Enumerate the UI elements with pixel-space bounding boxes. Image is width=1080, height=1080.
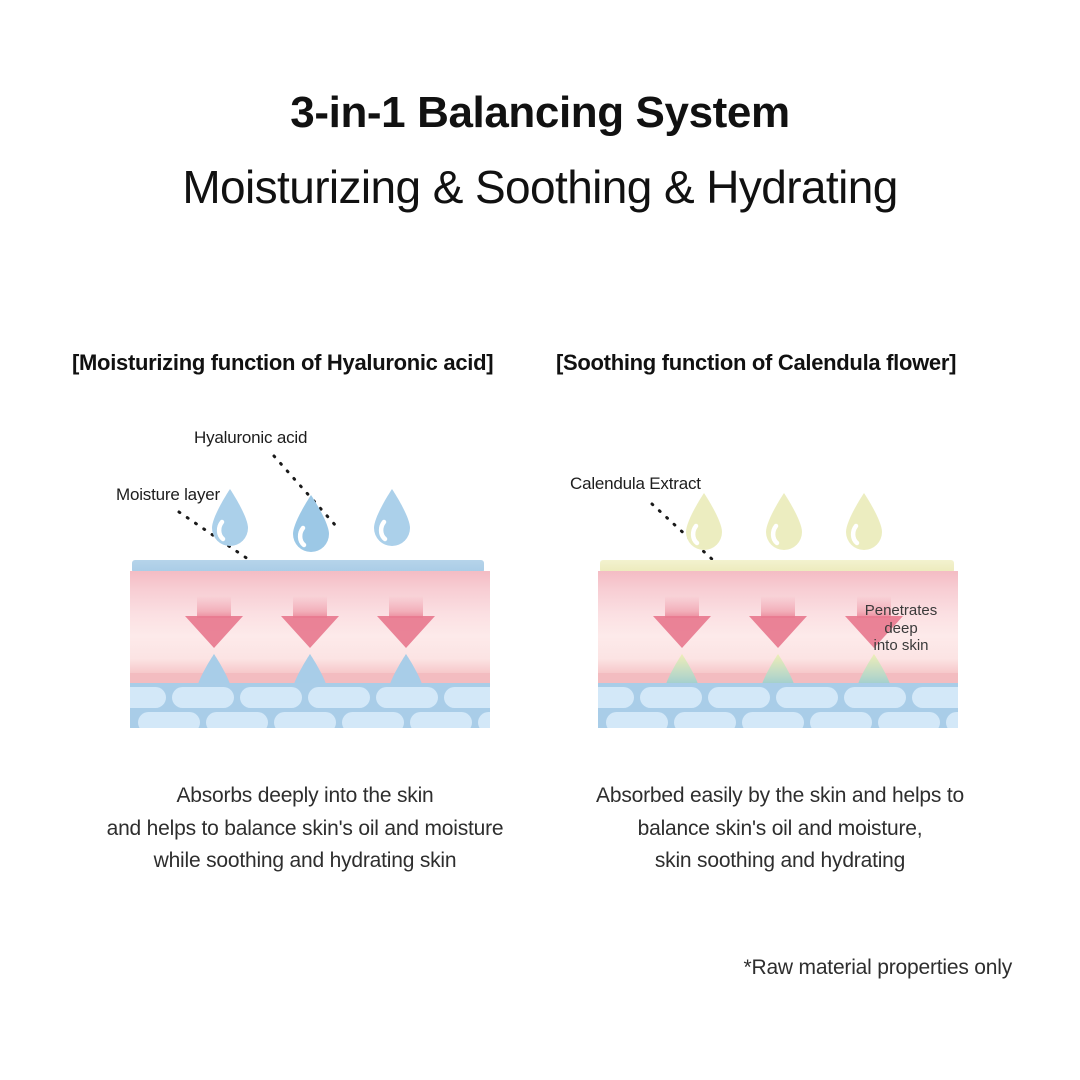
caption-left-line-3: while soothing and hydrating skin bbox=[60, 845, 550, 878]
droplet-calendula-1 bbox=[682, 492, 726, 554]
panel-soothing: Calendula Extract bbox=[500, 400, 1020, 1020]
penetrates-line-2: deep bbox=[846, 620, 956, 638]
callout-hyaluronic-acid: Hyaluronic acid bbox=[194, 428, 307, 448]
infographic-page: 3-in-1 Balancing System Moisturizing & S… bbox=[0, 0, 1080, 1080]
droplet-hyaluronic-1 bbox=[208, 488, 252, 550]
penetrates-line-1: Penetrates bbox=[846, 602, 956, 620]
caption-right-line-2: balance skin's oil and moisture, bbox=[545, 813, 1015, 846]
caption-left-line-1: Absorbs deeply into the skin bbox=[60, 780, 550, 813]
droplet-hyaluronic-3 bbox=[370, 488, 414, 550]
page-title: 3-in-1 Balancing System bbox=[0, 88, 1080, 138]
skin-base-layer-left bbox=[130, 683, 490, 728]
section-heading-moisturizing: [Moisturizing function of Hyaluronic aci… bbox=[72, 350, 493, 376]
callout-calendula-extract: Calendula Extract bbox=[570, 474, 701, 494]
caption-right-line-1: Absorbed easily by the skin and helps to bbox=[545, 780, 1015, 813]
section-heading-soothing: [Soothing function of Calendula flower] bbox=[556, 350, 956, 376]
callout-moisture-layer: Moisture layer bbox=[116, 485, 220, 505]
caption-soothing: Absorbed easily by the skin and helps to… bbox=[545, 780, 1015, 878]
caption-left-line-2: and helps to balance skin's oil and mois… bbox=[60, 813, 550, 846]
caption-moisturizing: Absorbs deeply into the skin and helps t… bbox=[60, 780, 550, 878]
page-subtitle: Moisturizing & Soothing & Hydrating bbox=[0, 160, 1080, 214]
caption-right-line-3: skin soothing and hydrating bbox=[545, 845, 1015, 878]
skin-cross-section-left bbox=[130, 560, 490, 728]
footnote-disclaimer: *Raw material properties only bbox=[0, 956, 1080, 980]
skin-base-layer-right bbox=[598, 683, 958, 728]
droplet-hyaluronic-2 bbox=[289, 494, 333, 556]
droplet-calendula-2 bbox=[762, 492, 806, 554]
panel-moisturizing: Hyaluronic acid Moisture layer bbox=[20, 400, 540, 1020]
droplet-calendula-3 bbox=[842, 492, 886, 554]
penetrates-deep-label: Penetrates deep into skin bbox=[846, 602, 956, 655]
skin-cross-section-right: Penetrates deep into skin bbox=[598, 560, 958, 728]
